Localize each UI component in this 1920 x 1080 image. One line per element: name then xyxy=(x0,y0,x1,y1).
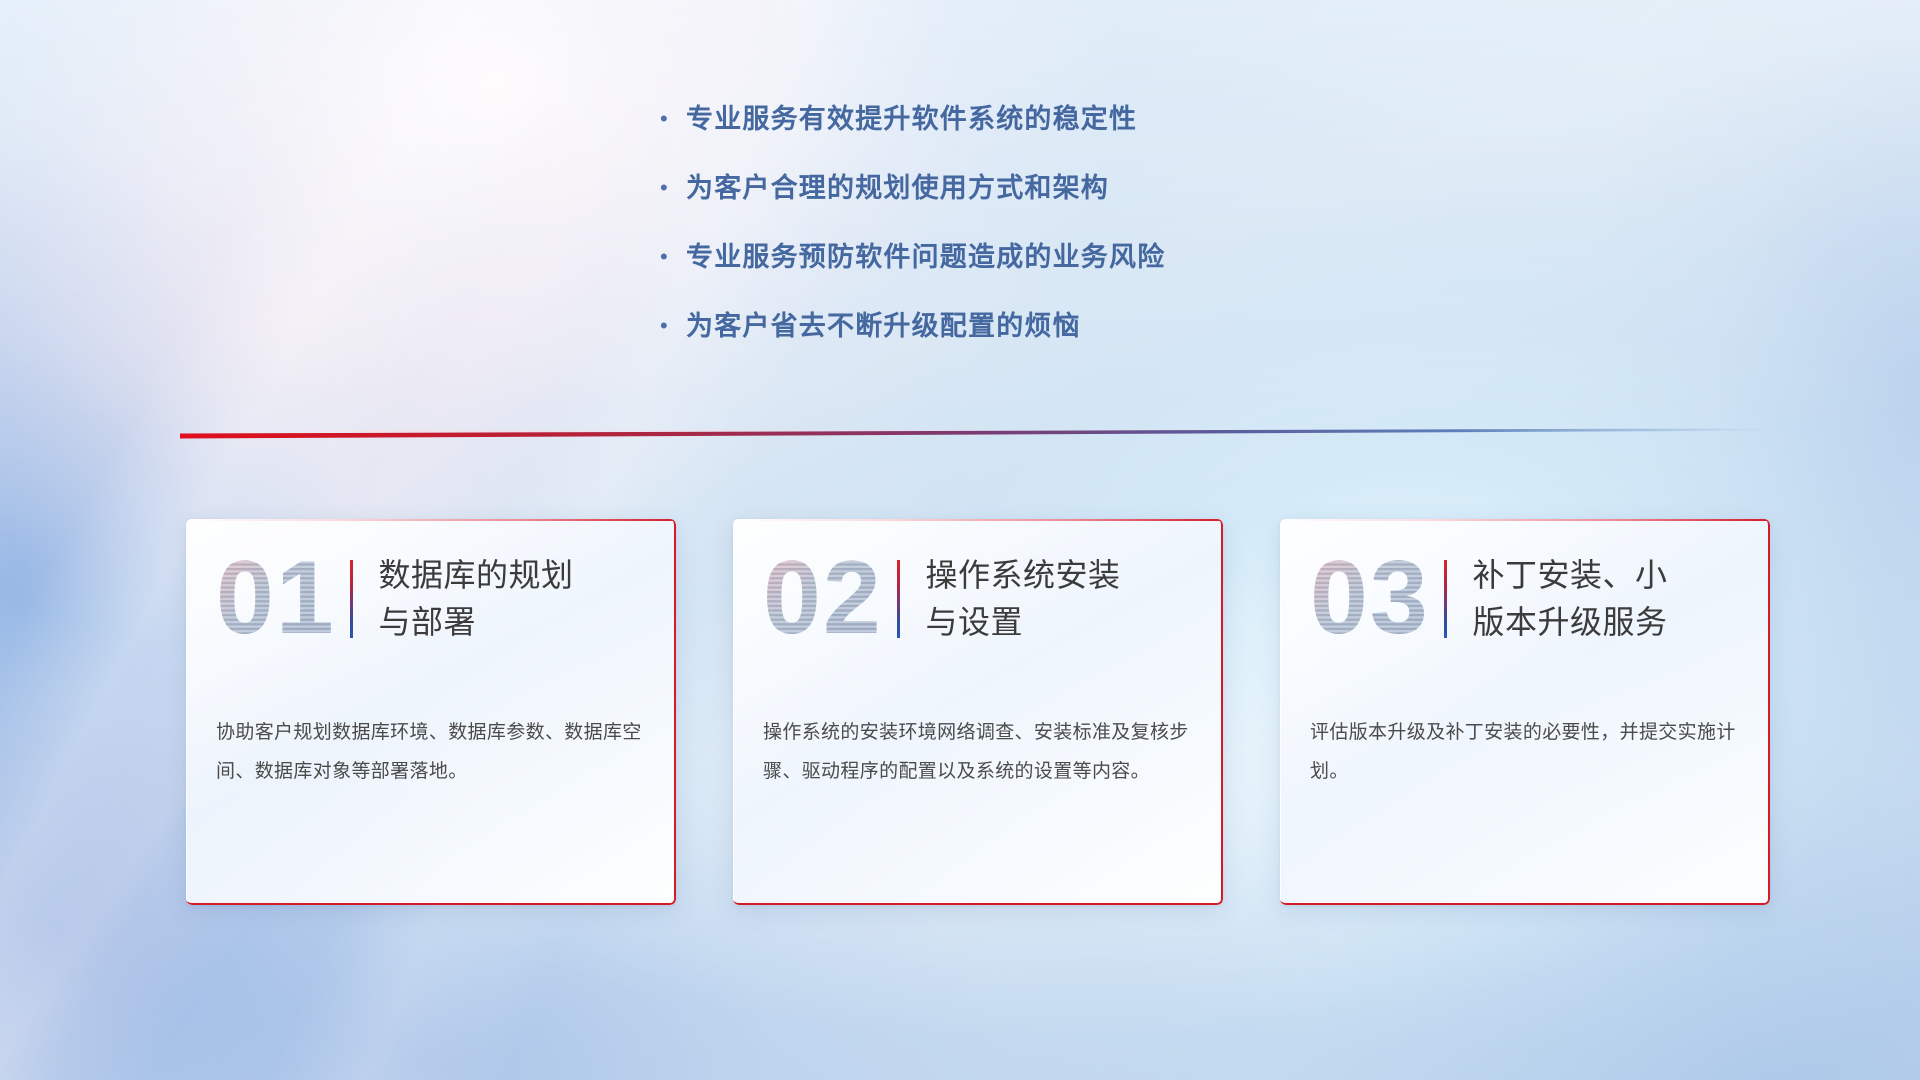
bullet-dot-icon: • xyxy=(660,238,686,276)
card-number-watermark: 02 xyxy=(763,545,893,653)
striped-number-icon: 03 xyxy=(1310,545,1440,653)
card-title: 补丁安装、小 版本升级服务 xyxy=(1473,552,1668,646)
bullet-item-label: 专业服务有效提升软件系统的稳定性 xyxy=(686,100,1137,138)
striped-number-icon: 01 xyxy=(216,545,346,653)
bullet-item-label: 为客户省去不断升级配置的烦恼 xyxy=(686,307,1081,345)
bullet-item: • 专业服务有效提升软件系统的稳定性 xyxy=(660,100,1420,138)
card-title: 数据库的规划 与部署 xyxy=(379,552,574,646)
card-body-text: 协助客户规划数据库环境、数据库参数、数据库空间、数据库对象等部署落地。 xyxy=(186,679,676,791)
service-card[interactable]: 01 数据库的规划 与部署 协助客户规划数据库环境、数据库参数、数据库空间、数据… xyxy=(186,519,676,905)
card-accent-rule xyxy=(1444,560,1447,638)
card-header: 01 数据库的规划 与部署 xyxy=(186,519,676,679)
bullet-dot-icon: • xyxy=(660,169,686,207)
service-card[interactable]: 03 补丁安装、小 版本升级服务 评估版本升级及补丁安装的必要性，并提交实施计划… xyxy=(1280,519,1770,905)
card-number-watermark: 03 xyxy=(1310,545,1440,653)
card-accent-rule xyxy=(350,560,353,638)
bullet-item: • 专业服务预防软件问题造成的业务风险 xyxy=(660,238,1420,276)
bullet-item: • 为客户合理的规划使用方式和架构 xyxy=(660,169,1420,207)
card-number-watermark: 01 xyxy=(216,545,346,653)
service-card-row: 01 数据库的规划 与部署 协助客户规划数据库环境、数据库参数、数据库空间、数据… xyxy=(186,519,1772,919)
bullet-dot-icon: • xyxy=(660,100,686,138)
benefits-bullet-list: • 专业服务有效提升软件系统的稳定性 • 为客户合理的规划使用方式和架构 • 专… xyxy=(660,100,1420,376)
card-title: 操作系统安装 与设置 xyxy=(926,552,1121,646)
service-card[interactable]: 02 操作系统安装 与设置 操作系统的安装环境网络调查、安装标准及复核步骤、驱动… xyxy=(733,519,1223,905)
card-body-text: 评估版本升级及补丁安装的必要性，并提交实施计划。 xyxy=(1280,679,1770,791)
card-header: 03 补丁安装、小 版本升级服务 xyxy=(1280,519,1770,679)
bullet-item: • 为客户省去不断升级配置的烦恼 xyxy=(660,307,1420,345)
striped-number-icon: 02 xyxy=(763,545,893,653)
section-divider xyxy=(180,418,1780,446)
card-body-text: 操作系统的安装环境网络调查、安装标准及复核步骤、驱动程序的配置以及系统的设置等内… xyxy=(733,679,1223,791)
card-header: 02 操作系统安装 与设置 xyxy=(733,519,1223,679)
bullet-item-label: 专业服务预防软件问题造成的业务风险 xyxy=(686,238,1165,276)
tapered-divider-line-icon xyxy=(180,418,1780,446)
card-accent-rule xyxy=(897,560,900,638)
bullet-dot-icon: • xyxy=(660,307,686,345)
bullet-item-label: 为客户合理的规划使用方式和架构 xyxy=(686,169,1109,207)
